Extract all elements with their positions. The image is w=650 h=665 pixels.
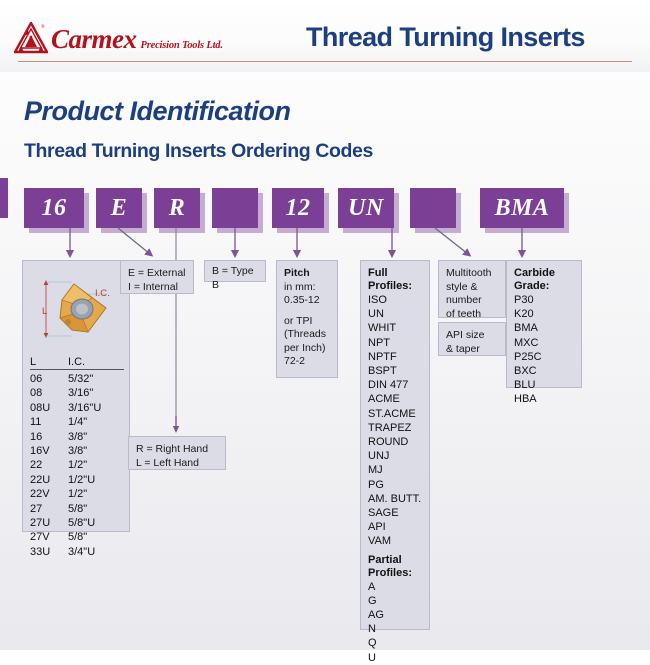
size-table: L I.C. 065/32"083/16"08U3/16"U111/4"163/… [30, 356, 124, 559]
size-cell-l: 16 [30, 430, 68, 444]
full-profile-item: SAGE [368, 506, 422, 520]
partial-profiles-list: AGAGNQU [368, 580, 422, 665]
code-box-profile-label: UN [348, 195, 384, 222]
full-profile-item: WHIT [368, 321, 422, 335]
size-table-body: 065/32"083/16"08U3/16"U111/4"163/8"16V3/… [30, 372, 124, 559]
size-cell-ic: 5/32" [68, 372, 124, 386]
partial-profile-item: A [368, 580, 422, 594]
code-box-type[interactable] [212, 188, 258, 228]
code-box-pitch[interactable]: 12 [272, 188, 324, 228]
size-cell-l: 06 [30, 372, 68, 386]
dim-label-l: L [42, 306, 47, 317]
code-box-external-internal[interactable]: E [96, 188, 142, 228]
pitch-tpi-desc-2: per Inch) [284, 342, 330, 356]
full-profile-item: UNJ [368, 449, 422, 463]
multitooth-line-1: Multitooth [446, 267, 498, 281]
full-profiles-list: ISOUNWHITNPTNPTFBSPTDIN 477ACMEST.ACMETR… [368, 293, 422, 549]
carmex-logo: ® Carmex Precision Tools Ltd. [14, 22, 223, 54]
size-cell-ic: 5/8" [68, 530, 124, 544]
full-profiles-heading-1: Full [368, 267, 422, 280]
partial-profiles-heading-1: Partial [368, 554, 422, 567]
full-profile-item: ROUND [368, 435, 422, 449]
external-label: E = External [128, 267, 186, 281]
size-table-row: 083/16" [30, 386, 124, 400]
size-cell-ic: 5/8" [68, 502, 124, 516]
carbide-grade-item: BXC [514, 364, 574, 378]
size-cell-l: 08 [30, 386, 68, 400]
pitch-heading: Pitch [284, 267, 330, 281]
full-profile-item: ISO [368, 293, 422, 307]
code-box-carbide-grade[interactable]: BMA [480, 188, 564, 228]
full-profile-item: NPT [368, 336, 422, 350]
size-cell-l: 22V [30, 487, 68, 501]
size-table-row: 22U1/2"U [30, 473, 124, 487]
api-line-1: API size [446, 329, 498, 343]
full-profile-item: TRAPEZ [368, 421, 422, 435]
size-table-row: 275/8" [30, 502, 124, 516]
size-table-row: 111/4" [30, 415, 124, 429]
size-cell-l: 11 [30, 415, 68, 429]
size-cell-ic: 5/8"U [68, 516, 124, 530]
page-title: Product Identification [24, 96, 291, 127]
size-cell-ic: 3/4"U [68, 545, 124, 559]
connector-arrow-hand [168, 416, 198, 436]
partial-profile-item: AG [368, 608, 422, 622]
page-header: ® Carmex Precision Tools Ltd. Thread Tur… [0, 0, 650, 72]
size-cell-l: 33U [30, 545, 68, 559]
full-profile-item: BSPT [368, 364, 422, 378]
carbide-grade-list: P30K20BMAMXCP25CBXCBLUHBA [514, 293, 574, 407]
size-table-row: 27V5/8" [30, 530, 124, 544]
full-profile-item: API [368, 520, 422, 534]
partial-profile-item: Q [368, 636, 422, 650]
size-table-header-ic: I.C. [68, 356, 124, 368]
size-cell-l: 27V [30, 530, 68, 544]
carbide-grade-item: HBA [514, 392, 574, 406]
carbide-grade-item: BMA [514, 321, 574, 335]
full-profile-item: PG [368, 478, 422, 492]
size-table-row: 065/32" [30, 372, 124, 386]
size-cell-ic: 1/2"U [68, 473, 124, 487]
product-identification-page: ® Carmex Precision Tools Ltd. Thread Tur… [0, 0, 650, 650]
partial-profiles-heading-2: Profiles: [368, 567, 422, 580]
full-profile-item: ST.ACME [368, 407, 422, 421]
header-divider [18, 61, 632, 62]
size-table-header: L I.C. [30, 356, 124, 370]
left-hand-label: L = Left Hand [136, 457, 218, 471]
size-cell-l: 27U [30, 516, 68, 530]
brand-tagline: Precision Tools Ltd. [141, 40, 223, 51]
full-profile-item: UN [368, 307, 422, 321]
pitch-range-mm: 0.35-12 [284, 294, 330, 308]
size-cell-ic: 1/4" [68, 415, 124, 429]
pitch-panel: Pitch in mm: 0.35-12 or TPI (Threads per… [276, 260, 338, 378]
carbide-grade-item: P30 [514, 293, 574, 307]
pitch-range-tpi: 72-2 [284, 355, 330, 369]
code-box-size-label: 16 [42, 195, 67, 222]
api-line-2: & taper [446, 343, 498, 357]
type-b-label: B = Type B [212, 265, 258, 292]
hand-panel: R = Right Hand L = Left Hand [128, 436, 226, 470]
pitch-tpi-label: or TPI [284, 315, 330, 329]
external-internal-panel: E = External I = Internal [120, 260, 194, 294]
partial-profile-item: G [368, 594, 422, 608]
size-cell-ic: 3/8" [68, 430, 124, 444]
page-subtitle: Thread Turning Inserts Ordering Codes [24, 140, 373, 163]
code-box-carbide-grade-label: BMA [495, 195, 550, 222]
profiles-panel: Full Profiles: ISOUNWHITNPTNPTFBSPTDIN 4… [360, 260, 430, 630]
code-box-hand[interactable]: R [154, 188, 200, 228]
code-box-pitch-label: 12 [286, 195, 311, 222]
carbide-heading-1: Carbide [514, 267, 574, 280]
brand-name: Carmex [51, 26, 137, 53]
carbide-grade-item: BLU [514, 378, 574, 392]
multitooth-line-3: number [446, 294, 498, 308]
size-cell-ic: 1/2" [68, 458, 124, 472]
carbide-heading-2: Grade: [514, 280, 574, 293]
size-table-row: 33U3/4"U [30, 545, 124, 559]
svg-text:®: ® [41, 24, 45, 30]
size-cell-l: 22U [30, 473, 68, 487]
partial-profile-item: U [368, 651, 422, 665]
code-box-hand-label: R [169, 195, 186, 222]
dim-label-ic: I.C. [95, 288, 110, 299]
header-title: Thread Turning Inserts [306, 22, 585, 53]
size-table-row: 221/2" [30, 458, 124, 472]
pitch-tpi-desc-1: (Threads [284, 328, 330, 342]
carmex-triangle-logo-icon: ® [14, 22, 48, 54]
full-profile-item: AM. BUTT. [368, 492, 422, 506]
size-cell-ic: 3/16" [68, 386, 124, 400]
full-profile-item: MJ [368, 463, 422, 477]
full-profile-item: VAM [368, 534, 422, 548]
type-panel: B = Type B [204, 260, 266, 282]
size-cell-ic: 1/2" [68, 487, 124, 501]
carbide-grade-item: P25C [514, 350, 574, 364]
code-box-external-internal-label: E [111, 195, 128, 222]
size-cell-ic: 3/16"U [68, 401, 124, 415]
code-box-multitooth[interactable] [410, 188, 456, 228]
size-cell-l: 16V [30, 444, 68, 458]
pitch-unit: in mm: [284, 281, 330, 295]
carbide-grade-panel: Carbide Grade: P30K20BMAMXCP25CBXCBLUHBA [506, 260, 582, 388]
carbide-grade-item: MXC [514, 336, 574, 350]
full-profile-item: ACME [368, 392, 422, 406]
code-box-size[interactable]: 16 [24, 188, 84, 228]
size-cell-ic: 3/8" [68, 444, 124, 458]
size-cell-l: 22 [30, 458, 68, 472]
size-table-row: 22V1/2" [30, 487, 124, 501]
size-table-row: 27U5/8"U [30, 516, 124, 530]
size-cell-l: 08U [30, 401, 68, 415]
multitooth-line-4: of teeth [446, 308, 498, 322]
full-profile-item: DIN 477 [368, 378, 422, 392]
size-table-row: 163/8" [30, 430, 124, 444]
code-box-profile[interactable]: UN [338, 188, 394, 228]
full-profiles-heading-2: Profiles: [368, 280, 422, 293]
size-cell-l: 27 [30, 502, 68, 516]
multitooth-panel: Multitooth style & number of teeth [438, 260, 506, 318]
internal-label: I = Internal [128, 281, 186, 295]
full-profile-item: NPTF [368, 350, 422, 364]
api-panel: API size & taper [438, 322, 506, 356]
size-table-row: 16V3/8" [30, 444, 124, 458]
partial-profile-item: N [368, 622, 422, 636]
carbide-grade-item: K20 [514, 307, 574, 321]
size-table-header-l: L [30, 356, 68, 368]
multitooth-line-2: style & [446, 281, 498, 295]
size-table-row: 08U3/16"U [30, 401, 124, 415]
accent-bar [0, 178, 8, 218]
right-hand-label: R = Right Hand [136, 443, 218, 457]
